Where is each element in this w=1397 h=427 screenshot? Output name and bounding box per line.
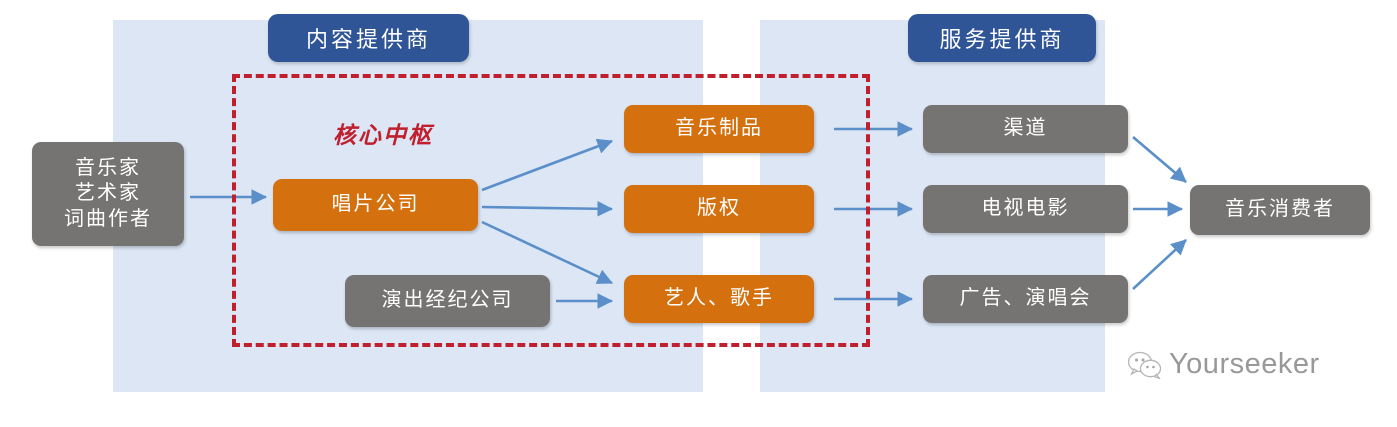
section-header-service-provider: 服务提供商 (908, 14, 1096, 62)
node-channels: 渠道 (923, 105, 1128, 153)
node-creators-line-1: 音乐家 (75, 156, 141, 182)
node-music-consumers-label: 音乐消费者 (1225, 197, 1335, 223)
node-record-company-label: 唱片公司 (332, 192, 420, 218)
node-artists-singers-label: 艺人、歌手 (664, 286, 774, 312)
wechat-icon (1128, 351, 1162, 379)
node-record-company: 唱片公司 (273, 179, 478, 231)
node-music-products: 音乐制品 (624, 105, 814, 153)
node-copyright: 版权 (624, 185, 814, 233)
node-creators: 音乐家 艺术家 词曲作者 (32, 142, 184, 246)
node-channels-label: 渠道 (1004, 116, 1048, 142)
node-music-consumers: 音乐消费者 (1190, 185, 1370, 235)
watermark-text: Yourseeker (1169, 348, 1320, 381)
node-creators-line-3: 词曲作者 (64, 207, 152, 233)
node-ads-concerts-label: 广告、演唱会 (960, 286, 1092, 312)
diagram-canvas: 内容提供商 服务提供商 核心中枢 音乐家 艺术家 词曲作者 唱片公司 演出经纪公… (0, 0, 1397, 427)
core-hub-annotation: 核心中枢 (333, 116, 433, 150)
node-copyright-label: 版权 (697, 196, 741, 222)
section-header-service-provider-label: 服务提供商 (939, 22, 1064, 54)
node-ads-concerts: 广告、演唱会 (923, 275, 1128, 323)
section-header-content-provider-label: 内容提供商 (306, 22, 431, 54)
watermark: Yourseeker (1128, 348, 1320, 381)
node-music-products-label: 音乐制品 (675, 116, 763, 142)
node-performance-agency-label: 演出经纪公司 (382, 288, 514, 314)
node-tv-film-label: 电视电影 (982, 196, 1070, 222)
node-artists-singers: 艺人、歌手 (624, 275, 814, 323)
node-tv-film: 电视电影 (923, 185, 1128, 233)
node-creators-line-2: 艺术家 (75, 181, 141, 207)
section-header-content-provider: 内容提供商 (268, 14, 469, 62)
node-performance-agency: 演出经纪公司 (345, 275, 550, 327)
